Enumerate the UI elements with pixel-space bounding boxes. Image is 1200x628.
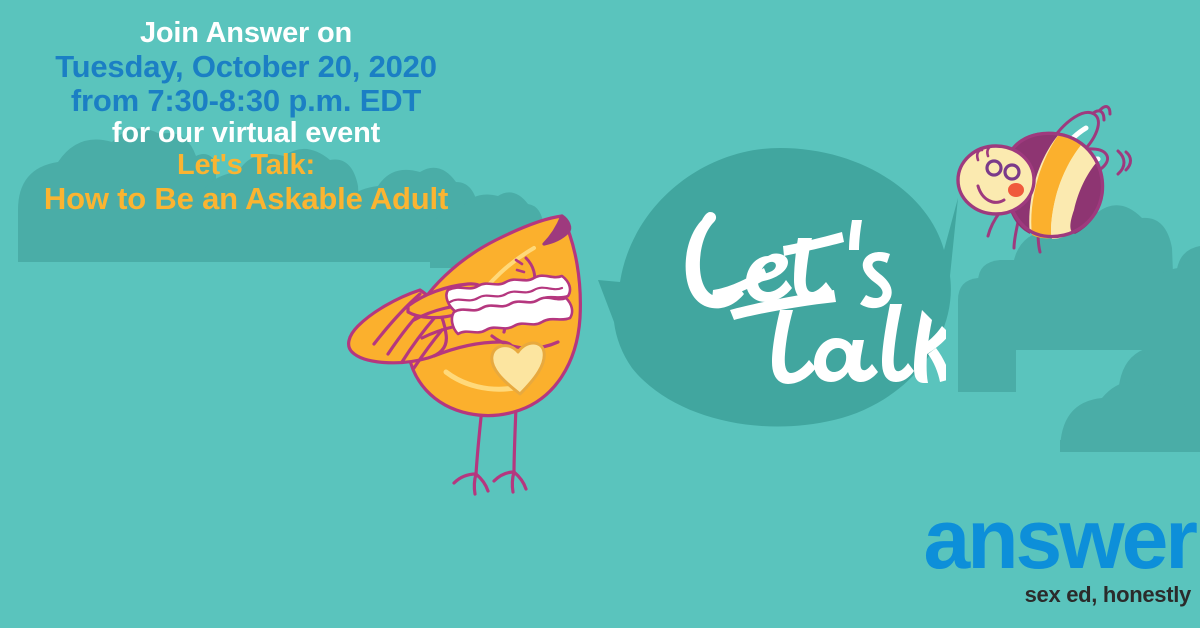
logo-wordmark: answer	[870, 505, 1195, 574]
bee-illustration	[948, 82, 1153, 262]
speech-bubble-shape	[598, 140, 958, 440]
headline-line-virtual-event: for our virtual event	[0, 118, 492, 150]
headline-line-1: Join Answer on	[0, 18, 492, 50]
speech-bubble	[598, 140, 958, 440]
answer-logo[interactable]: answer sex ed, honestly	[870, 505, 1195, 608]
headline-line-date: Tuesday, October 20, 2020	[0, 50, 492, 84]
bird-illustration	[296, 186, 626, 496]
logo-tagline: sex ed, honestly	[870, 582, 1195, 608]
event-promo-graphic: Join Answer on Tuesday, October 20, 2020…	[0, 0, 1200, 628]
headline-line-time: from 7:30-8:30 p.m. EDT	[0, 84, 492, 118]
headline-line-event-title-1: Let's Talk:	[0, 150, 492, 182]
